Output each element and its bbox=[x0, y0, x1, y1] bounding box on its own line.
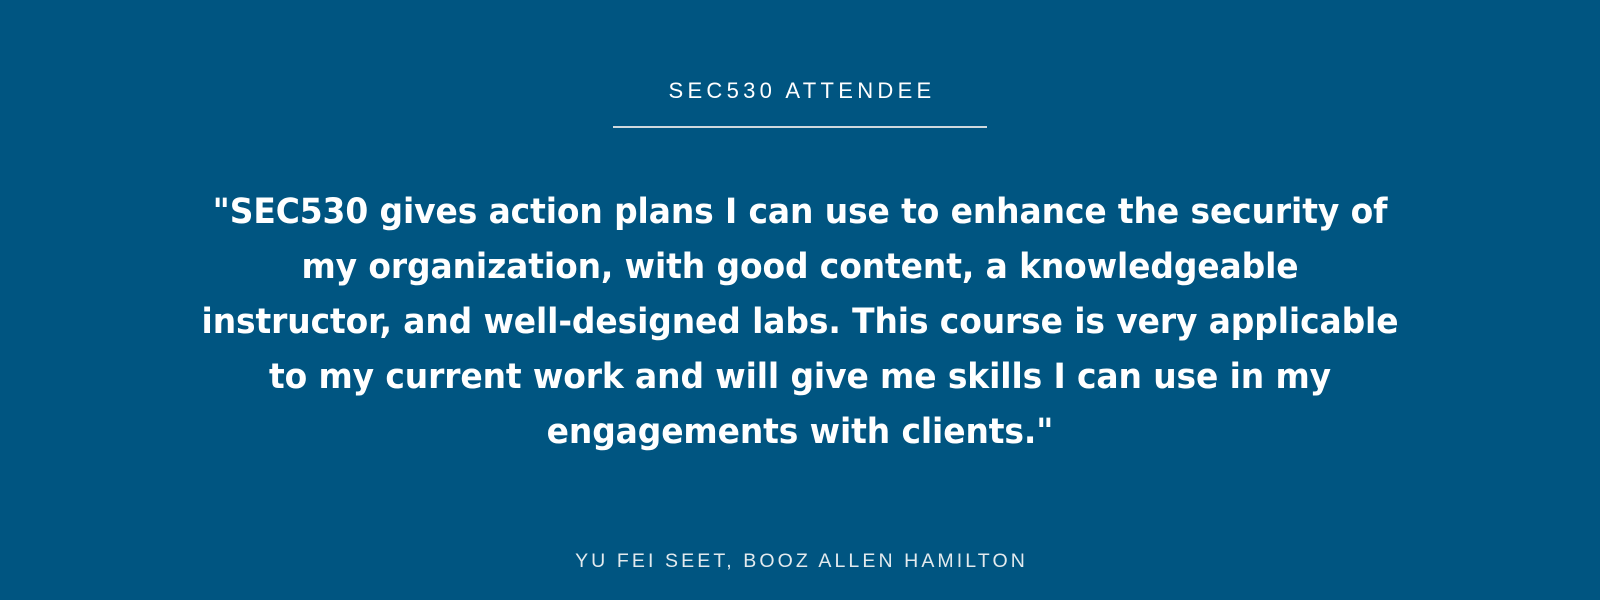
quote-attribution: YU FEI SEET, BOOZ ALLEN HAMILTON bbox=[575, 549, 1028, 573]
quote-text: "SEC530 gives action plans I can use to … bbox=[201, 185, 1399, 460]
eyebrow-heading: SEC530 ATTENDEE bbox=[668, 78, 935, 104]
eyebrow-divider bbox=[613, 126, 987, 128]
testimonial-card: SEC530 ATTENDEE "SEC530 gives action pla… bbox=[0, 0, 1600, 600]
